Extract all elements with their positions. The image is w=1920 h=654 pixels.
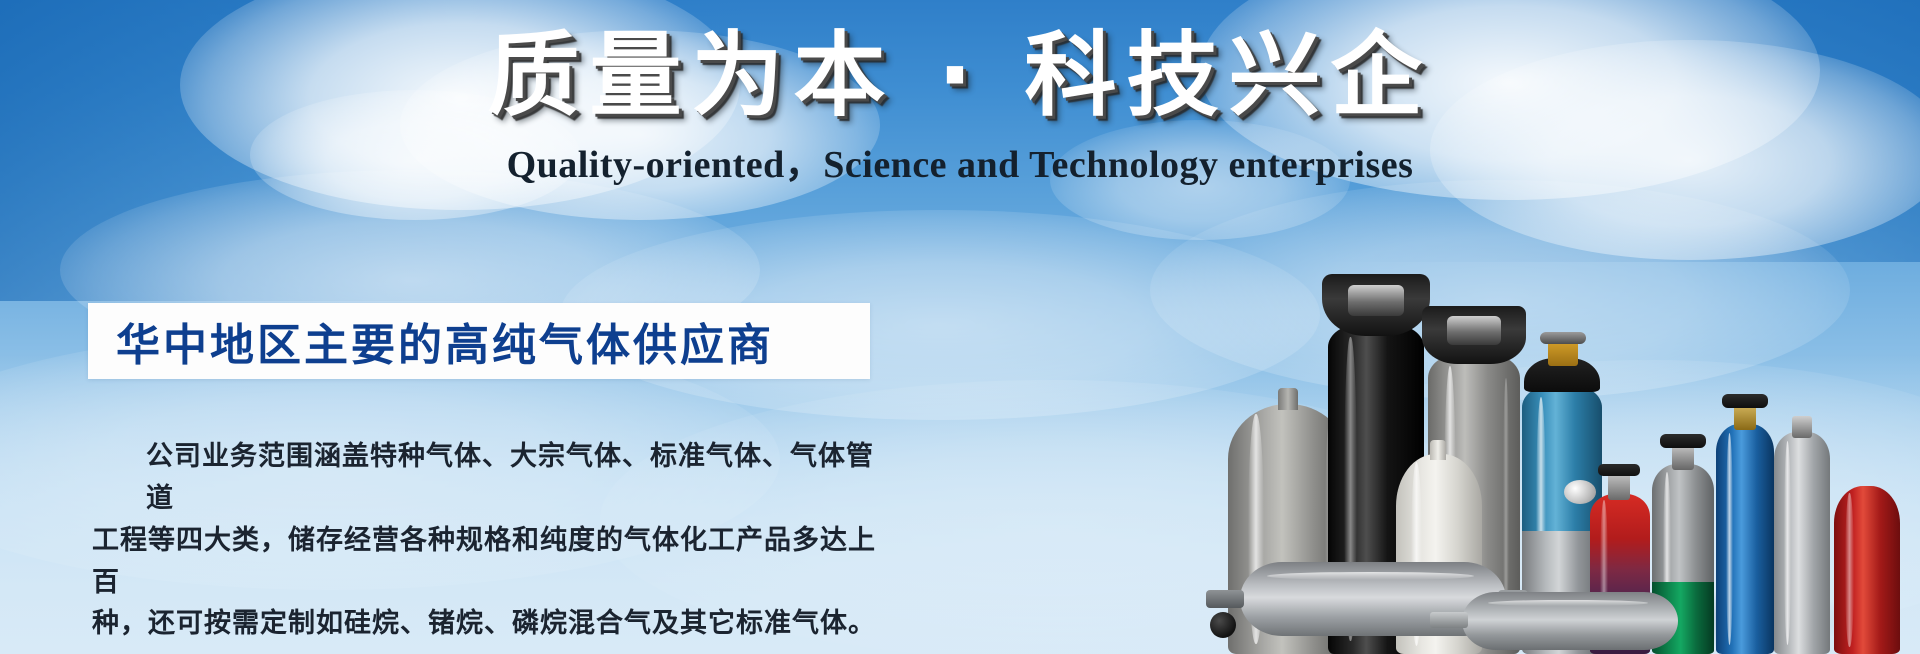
body-line-3: 种，还可按需定制如硅烷、锗烷、磷烷混合气及其它标准气体。 (92, 603, 882, 645)
body-paragraph: 公司业务范围涵盖特种气体、大宗气体、标准气体、气体管道 工程等四大类，储存经营各… (92, 436, 882, 645)
cylinder-valve (1792, 416, 1812, 438)
cylinder-cap (1422, 306, 1526, 364)
slogan-text: 华中地区主要的高纯气体供应商 (88, 309, 774, 373)
tank-horizontal-grey (1462, 592, 1678, 650)
slogan-highlight-box: 华中地区主要的高纯气体供应商 (88, 303, 870, 379)
tank-knob (1210, 612, 1236, 638)
valve-handle (1598, 464, 1640, 476)
cylinder-silver-slim (1774, 404, 1830, 654)
headline-block: 质量为本 · 科技兴企 Quality-oriented，Science and… (0, 24, 1920, 188)
promo-banner: 质量为本 · 科技兴企 Quality-oriented，Science and… (0, 0, 1920, 654)
cylinder-neck (1278, 388, 1297, 410)
cylinder-cap (1322, 274, 1430, 336)
cylinder-red-short (1834, 468, 1900, 654)
body-line-2: 工程等四大类，储存经营各种规格和纯度的气体化工产品多达上百 (92, 520, 882, 604)
valve-handle (1722, 394, 1768, 408)
headline-chinese: 质量为本 · 科技兴企 (487, 24, 1432, 127)
valve-handle (1660, 434, 1706, 448)
cylinder-neck (1430, 440, 1445, 460)
gas-cylinder-group (1200, 134, 1920, 654)
pressure-gauge (1564, 480, 1596, 504)
body-line-1: 公司业务范围涵盖特种气体、大宗气体、标准气体、气体管道 (92, 436, 882, 520)
headline-english: Quality-oriented，Science and Technology … (0, 133, 1920, 188)
tank-inlet (1430, 612, 1468, 628)
valve-knob (1540, 332, 1586, 344)
cylinder-blue-slim (1716, 386, 1774, 654)
tank-inlet (1206, 590, 1244, 608)
